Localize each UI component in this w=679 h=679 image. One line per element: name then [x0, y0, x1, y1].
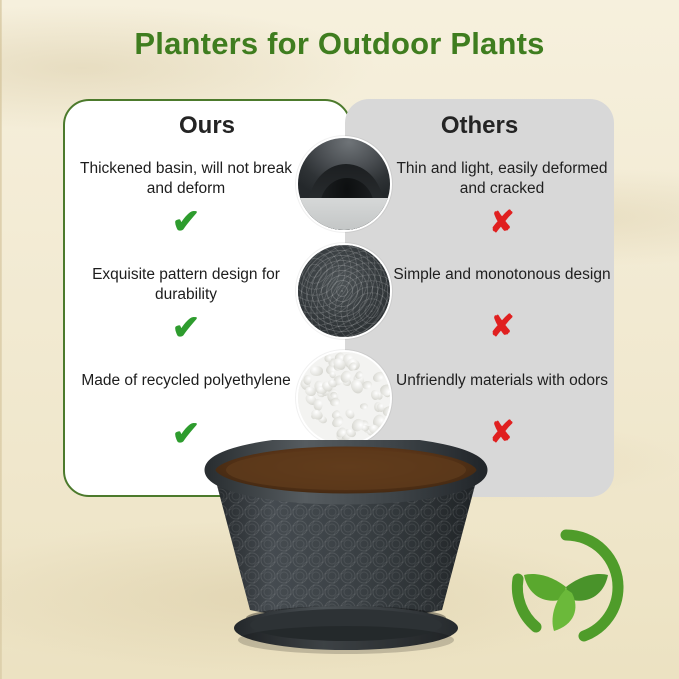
page-title: Planters for Outdoor Plants — [0, 26, 679, 62]
dark-gray-planter-with-saucer — [196, 440, 496, 660]
spiral-pattern-texture-photo — [296, 243, 392, 339]
ours-feature-2-text: Exquisite pattern design for durability — [66, 265, 306, 305]
polyethylene-pellets-photo — [296, 350, 392, 446]
others-feature-1-text: Thin and light, easily deformed and crac… — [382, 159, 622, 199]
product-comparison-infographic: Planters for Outdoor Plants Ours Others … — [0, 0, 679, 679]
recycle-leaves-icon — [506, 527, 626, 647]
ours-column-heading: Ours — [63, 112, 351, 140]
ours-feature-1-text: Thickened basin, will not break and defo… — [66, 159, 306, 199]
ours-feature-2-check-icon: ✔ — [66, 311, 306, 345]
others-feature-2-cross-icon: ✘ — [382, 312, 622, 342]
ours-feature-1-check-icon: ✔ — [66, 205, 306, 239]
others-feature-2-text: Simple and monotonous design — [382, 265, 622, 285]
others-feature-1-cross-icon: ✘ — [382, 208, 622, 238]
ours-feature-3-text: Made of recycled polyethylene — [66, 371, 306, 391]
others-column-heading: Others — [345, 112, 614, 140]
others-feature-3-text: Unfriendly materials with odors — [382, 371, 622, 391]
thick-basin-rim-photo — [296, 136, 392, 232]
